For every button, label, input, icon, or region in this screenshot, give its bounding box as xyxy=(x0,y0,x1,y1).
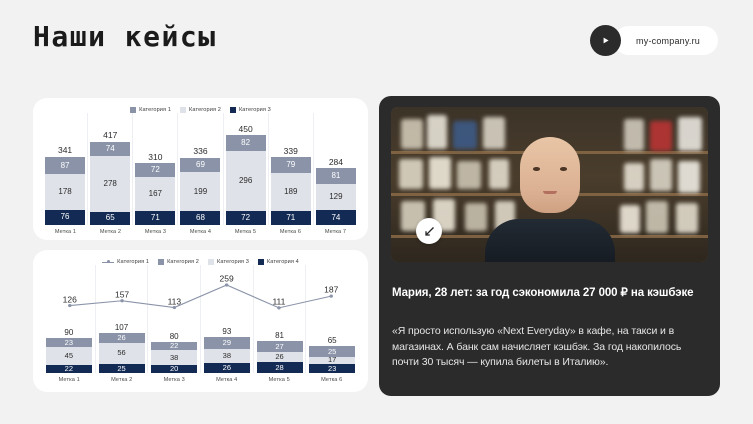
bar-total-label: 93 xyxy=(222,328,231,336)
bar-segment: 189 xyxy=(271,173,311,211)
chart2-bar-group: 65251723 xyxy=(306,265,358,373)
bar-segment: 56 xyxy=(99,343,145,364)
x-axis-label: Метка 2 xyxy=(96,377,149,383)
x-axis-label: Метка 5 xyxy=(223,229,268,235)
bar-segment: 65 xyxy=(90,212,130,225)
bar-segment: 178 xyxy=(45,174,85,210)
bar-segment: 278 xyxy=(90,156,130,212)
bar-segment: 81 xyxy=(316,168,356,184)
x-axis-label: Метка 6 xyxy=(268,229,313,235)
chart2-bar-group: 107265625 xyxy=(96,265,149,373)
bar-segment: 74 xyxy=(316,210,356,225)
bar-stack: 8717876 xyxy=(45,157,85,225)
bar-segment: 68 xyxy=(180,211,220,225)
bar-segment: 22 xyxy=(46,365,92,373)
bar-total-label: 417 xyxy=(103,131,117,140)
slide-root: Наши кейсы my-company.ru Категория 1 Кат… xyxy=(0,0,753,424)
x-axis-label: Метка 5 xyxy=(253,377,306,383)
chart1-bar-group: 3366919968 xyxy=(178,113,223,225)
chart1-legend: Категория 1 Категория 2 Категория 3 xyxy=(33,98,368,113)
x-axis-label: Метка 3 xyxy=(133,229,178,235)
chart-card-1: Категория 1 Категория 2 Категория 3 3418… xyxy=(33,98,368,240)
bar-segment: 87 xyxy=(45,157,85,174)
bar-total-label: 81 xyxy=(275,332,284,340)
bar-stack: 7427865 xyxy=(90,142,130,225)
x-axis-label: Метка 4 xyxy=(178,229,223,235)
bar-segment: 71 xyxy=(271,211,311,225)
x-axis-label: Метка 3 xyxy=(148,377,201,383)
x-axis-label: Метка 7 xyxy=(313,229,358,235)
story-card: Мария, 28 лет: за год сэкономила 27 000 … xyxy=(379,96,720,396)
bar-segment: 72 xyxy=(226,211,266,225)
bar-segment: 69 xyxy=(180,158,220,172)
bar-stack: 293826 xyxy=(204,337,250,373)
bar-segment: 26 xyxy=(99,333,145,343)
bar-segment: 38 xyxy=(151,350,197,365)
chart1-x-axis: Метка 1Метка 2Метка 3Метка 4Метка 5Метка… xyxy=(33,229,368,235)
bar-segment: 22 xyxy=(151,342,197,351)
arrow-down-left-icon[interactable] xyxy=(416,218,442,244)
bar-segment: 167 xyxy=(135,177,175,210)
bar-segment: 199 xyxy=(180,172,220,212)
bar-stack: 6919968 xyxy=(180,158,220,225)
x-axis-label: Метка 1 xyxy=(43,377,96,383)
chart2-x-axis: Метка 1Метка 2Метка 3Метка 4Метка 5Метка… xyxy=(33,377,368,383)
story-quote: «Я просто использую «Next Everyday» в ка… xyxy=(392,324,710,371)
bar-total-label: 90 xyxy=(64,329,73,337)
bar-total-label: 310 xyxy=(148,153,162,162)
bar-stack: 7216771 xyxy=(135,163,175,225)
chart2-bar-group: 93293826 xyxy=(201,265,254,373)
chart2-legend: Категория 1 Категория 2 Категория 3 Кате… xyxy=(33,250,368,265)
page-title: Наши кейсы xyxy=(33,20,217,53)
bar-segment: 26 xyxy=(257,352,303,362)
bar-segment: 38 xyxy=(204,349,250,364)
chart2-plot: 9023452210726562580223820932938268127262… xyxy=(33,265,368,373)
bar-stack: 251723 xyxy=(309,346,355,373)
chart-card-2: Категория 1 Категория 2 Категория 3 Кате… xyxy=(33,250,368,392)
story-headline: Мария, 28 лет: за год сэкономила 27 000 … xyxy=(392,286,707,301)
chart1-plot: 3418717876417742786531072167713366919968… xyxy=(33,113,368,225)
bar-total-label: 65 xyxy=(328,337,337,345)
chart1-bar-group: 4177427865 xyxy=(88,113,133,225)
bar-total-label: 284 xyxy=(329,158,343,167)
bar-stack: 265625 xyxy=(99,333,145,373)
bar-stack: 7918971 xyxy=(271,157,311,225)
x-axis-label: Метка 1 xyxy=(43,229,88,235)
bar-total-label: 341 xyxy=(58,146,72,155)
brand-name-label: my-company.ru xyxy=(614,26,718,55)
bar-segment: 71 xyxy=(135,211,175,225)
bar-total-label: 107 xyxy=(115,324,128,332)
bar-segment: 72 xyxy=(135,163,175,177)
x-axis-label: Метка 4 xyxy=(201,377,254,383)
bar-segment: 76 xyxy=(45,210,85,225)
bar-segment: 28 xyxy=(257,362,303,373)
bar-segment: 17 xyxy=(309,357,355,364)
bar-segment: 26 xyxy=(204,363,250,373)
bar-stack: 8229672 xyxy=(226,135,266,225)
bar-total-label: 339 xyxy=(284,147,298,156)
chart1-bar-group: 3107216771 xyxy=(133,113,178,225)
chart1-bar-group: 4508229672 xyxy=(224,113,269,225)
bar-segment: 296 xyxy=(226,151,266,210)
play-icon[interactable] xyxy=(590,25,621,56)
portrait-face xyxy=(520,137,580,213)
bar-total-label: 450 xyxy=(239,125,253,134)
chart2-bar-group: 81272628 xyxy=(254,265,307,373)
bar-segment: 23 xyxy=(46,338,92,347)
chart2-bar-group: 90234522 xyxy=(43,265,96,373)
chart1-bar-group: 2848112974 xyxy=(314,113,358,225)
bar-stack: 8112974 xyxy=(316,168,356,225)
bar-segment: 27 xyxy=(257,341,303,352)
bar-segment: 20 xyxy=(151,365,197,373)
bar-segment: 79 xyxy=(271,157,311,173)
portrait-body xyxy=(485,219,615,262)
bar-segment: 74 xyxy=(90,142,130,157)
bar-segment: 129 xyxy=(316,184,356,210)
bar-stack: 272628 xyxy=(257,341,303,373)
chart2-bar-group: 80223820 xyxy=(148,265,201,373)
bar-segment: 45 xyxy=(46,347,92,364)
bar-segment: 82 xyxy=(226,135,266,151)
x-axis-label: Метка 2 xyxy=(88,229,133,235)
brand-badge[interactable]: my-company.ru xyxy=(590,25,718,56)
bar-total-label: 336 xyxy=(193,147,207,156)
bar-stack: 234522 xyxy=(46,338,92,373)
chart1-bar-group: 3418717876 xyxy=(43,113,88,225)
bar-segment: 29 xyxy=(204,337,250,348)
chart1-bar-group: 3397918971 xyxy=(269,113,314,225)
bar-stack: 223820 xyxy=(151,342,197,373)
x-axis-label: Метка 6 xyxy=(306,377,359,383)
bar-segment: 25 xyxy=(99,364,145,373)
bar-total-label: 80 xyxy=(170,333,179,341)
story-photo xyxy=(391,107,708,262)
bar-segment: 23 xyxy=(309,364,355,373)
